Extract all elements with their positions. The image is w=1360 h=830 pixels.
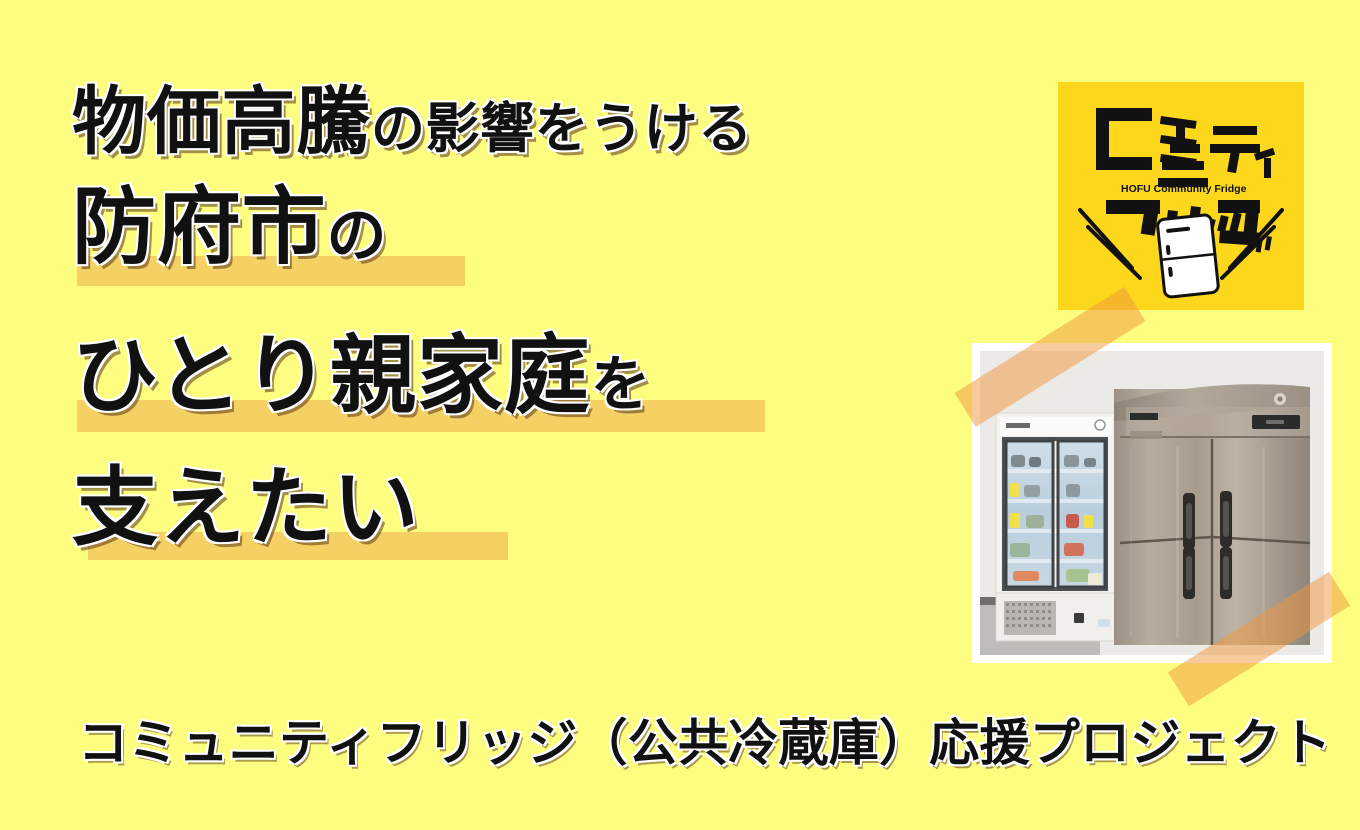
- headline-line-2: 防府市の: [72, 172, 932, 282]
- stainless-fridge: [1114, 384, 1310, 645]
- headline-line-3-emphasis: ひとり親家庭: [72, 320, 591, 432]
- headline-line-4-emphasis: 支えたい: [72, 454, 419, 562]
- fridge-handle: [1183, 493, 1195, 549]
- headline-line-1-emphasis: 物価高騰: [72, 78, 371, 166]
- fridge-handle: [1183, 547, 1195, 599]
- fridge-photo-frame: [972, 343, 1332, 663]
- headline-line-3-rest: を: [591, 329, 652, 441]
- headline-line-2-emphasis: 防府市: [72, 172, 327, 282]
- fridge-handle: [1220, 547, 1232, 599]
- fridge-photo-image: [980, 351, 1324, 655]
- headline-line-1-rest: の影響をうける: [371, 85, 753, 173]
- community-fridge-logo: HOFU Community Fridge: [1058, 82, 1304, 310]
- headline-line-2-rest: の: [327, 181, 388, 291]
- headline-line-3: ひとり親家庭を: [72, 320, 932, 432]
- headline-line-4: 支えたい: [72, 454, 932, 562]
- fridge-handle: [1220, 491, 1232, 547]
- headline-block: 物価高騰の影響をうける 防府市の ひとり親家庭を 支えたい: [72, 78, 932, 562]
- logo-subtitle: HOFU Community Fridge: [1121, 183, 1247, 195]
- poster-canvas: 物価高騰の影響をうける 防府市の ひとり親家庭を 支えたい コミュニティフリッジ…: [0, 0, 1360, 830]
- project-caption: コミュニティフリッジ（公共冷蔵庫）応援プロジェクト: [78, 712, 1331, 774]
- fridge-icon: [1157, 214, 1219, 297]
- logo-artwork: HOFU Community Fridge: [1058, 82, 1304, 310]
- glass-door-fridge: [996, 413, 1116, 641]
- fridge-photo: [980, 351, 1324, 655]
- headline-line-1: 物価高騰の影響をうける: [72, 78, 932, 166]
